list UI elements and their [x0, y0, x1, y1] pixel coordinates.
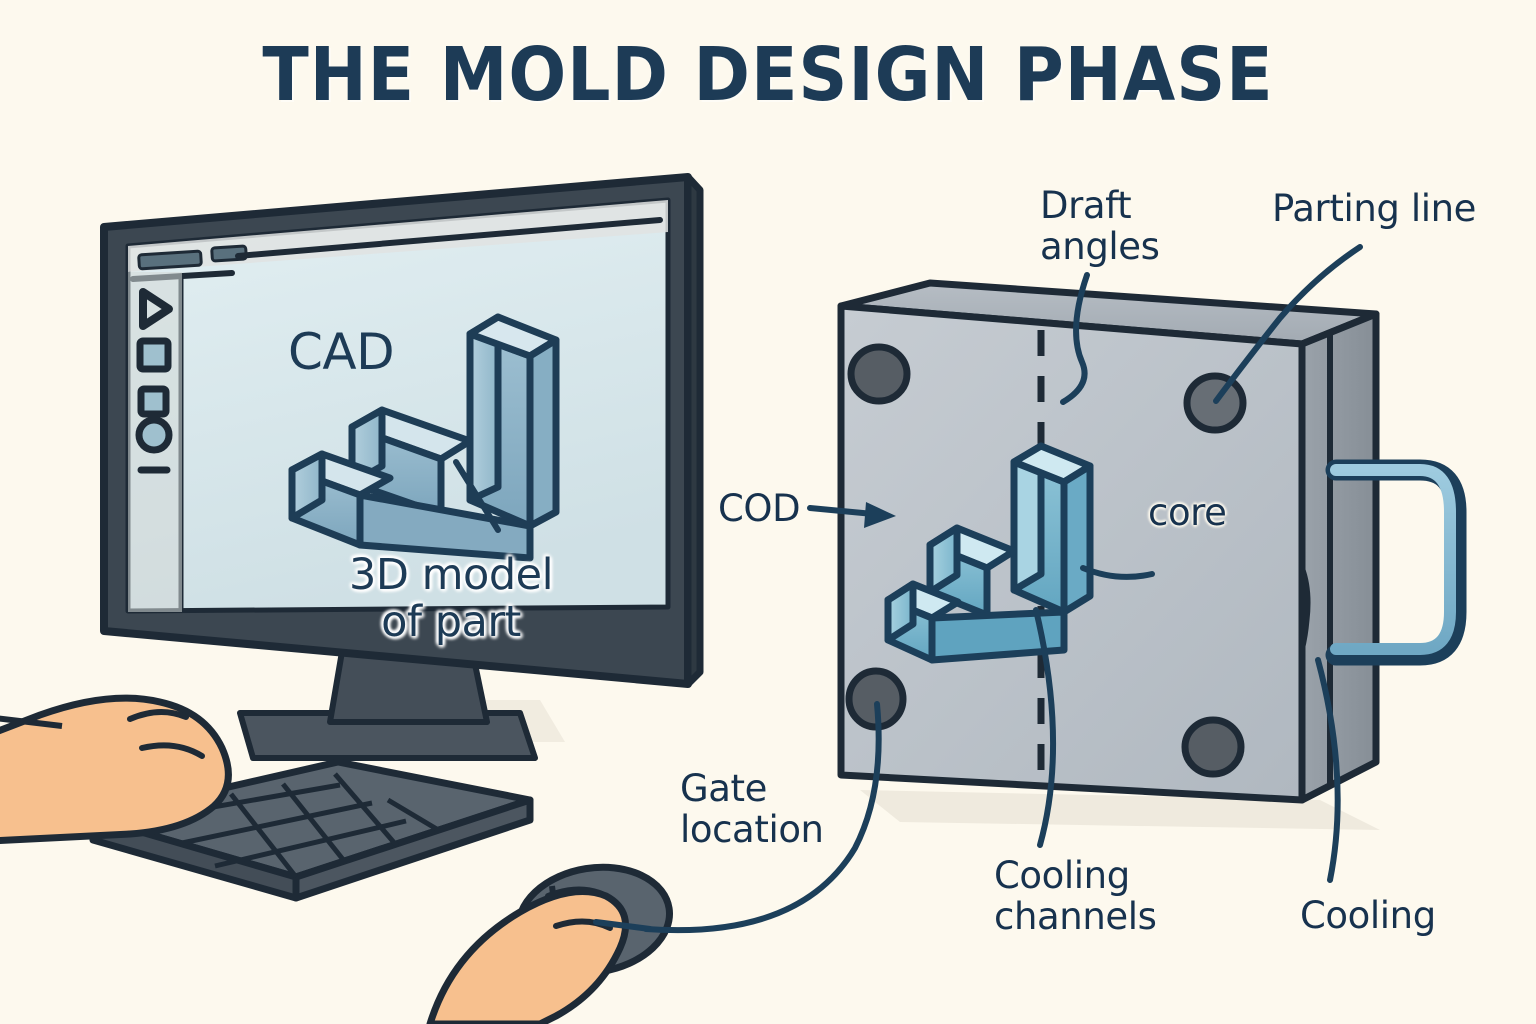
callout-gate-location: Gate location — [680, 768, 824, 851]
titlebar-chip-1[interactable] — [139, 251, 202, 269]
monitor-bezel-edge — [688, 177, 700, 684]
page-title: THE MOLD DESIGN PHASE — [61, 38, 1474, 112]
callout-core: core — [1148, 492, 1227, 533]
square-tool-icon[interactable] — [140, 341, 168, 369]
core-column-right — [1064, 466, 1090, 612]
left-hand — [0, 698, 228, 842]
mold-hole-top-left — [851, 347, 907, 401]
mold-hole-bottom-right — [1185, 720, 1241, 774]
callout-cooling: Cooling — [1300, 895, 1436, 936]
part-column-right — [530, 340, 556, 526]
callout-draft-angles: Draft angles — [1040, 185, 1160, 268]
callout-cooling-channels: Cooling channels — [994, 855, 1157, 938]
callout-cod: COD — [718, 488, 800, 529]
callout-parting-line: Parting line — [1272, 188, 1476, 229]
mold-block — [841, 283, 1456, 830]
cad-label: CAD — [288, 325, 394, 380]
illustration-canvas: THE MOLD DESIGN PHASE CAD 3D model of pa… — [0, 0, 1536, 1024]
square-small-tool-icon[interactable] — [141, 389, 166, 414]
model-caption-label: 3D model of part — [336, 552, 566, 647]
circle-tool-icon[interactable] — [139, 420, 169, 450]
mold-side-face — [1302, 314, 1376, 800]
